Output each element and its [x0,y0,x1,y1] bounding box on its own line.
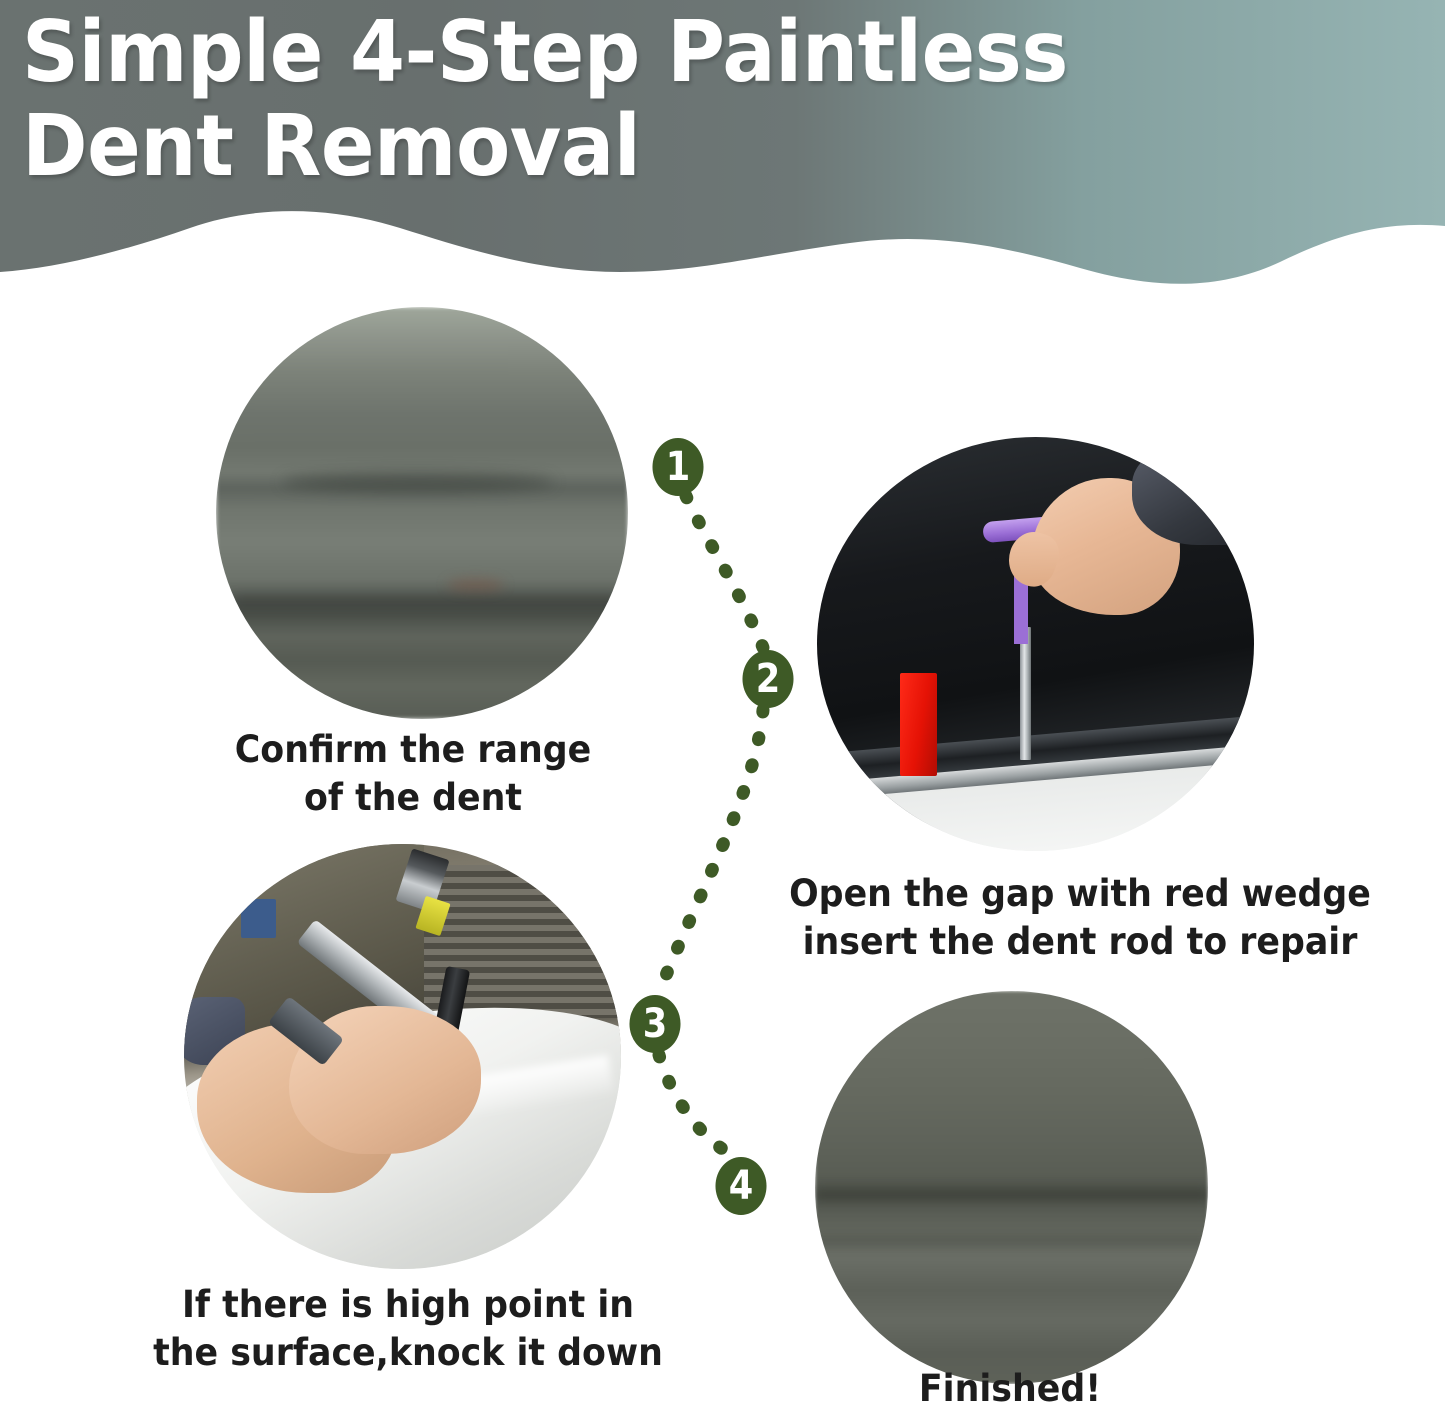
step-4-photo [815,991,1208,1384]
step-1-photo [216,307,628,719]
dent-rod-shaft [1020,627,1030,759]
step-badge-4[interactable]: 4 [715,1157,766,1215]
dent-rod-insert-photo [817,437,1254,851]
step-3-caption: If there is high point in the surface,kn… [117,1281,700,1377]
red-wedge [900,673,937,777]
step-2-photo [817,437,1254,851]
step-1-caption: Confirm the range of the dent [192,726,634,822]
panel-reflection-line [815,1235,1208,1247]
tap-down-hammer-photo [184,844,621,1269]
step-badge-2[interactable]: 2 [742,650,793,708]
panel-edge-line [232,595,619,611]
page-title: Simple 4-Step Paintless Dent Removal [22,6,1343,194]
step-4-caption: Finished! [803,1365,1217,1413]
infographic-page: Simple 4-Step Paintless Dent Removal 1 C… [0,0,1445,1414]
step-badge-3[interactable]: 3 [629,995,680,1053]
shirt-sleeve [1132,445,1254,544]
dent-closeup-photo [216,307,628,719]
wall-sticker [241,899,276,937]
step-badge-1-number: 1 [666,447,691,487]
step-badge-4-number: 4 [729,1166,754,1206]
step-2-caption: Open the gap with red wedge insert the d… [742,870,1419,966]
header-banner: Simple 4-Step Paintless Dent Removal [0,0,1445,300]
step-3-photo [184,844,621,1269]
step-badge-2-number: 2 [756,659,781,699]
step-badge-1[interactable]: 1 [652,438,703,496]
step-badge-3-number: 3 [643,1004,668,1044]
panel-crease-line [815,1188,1208,1202]
